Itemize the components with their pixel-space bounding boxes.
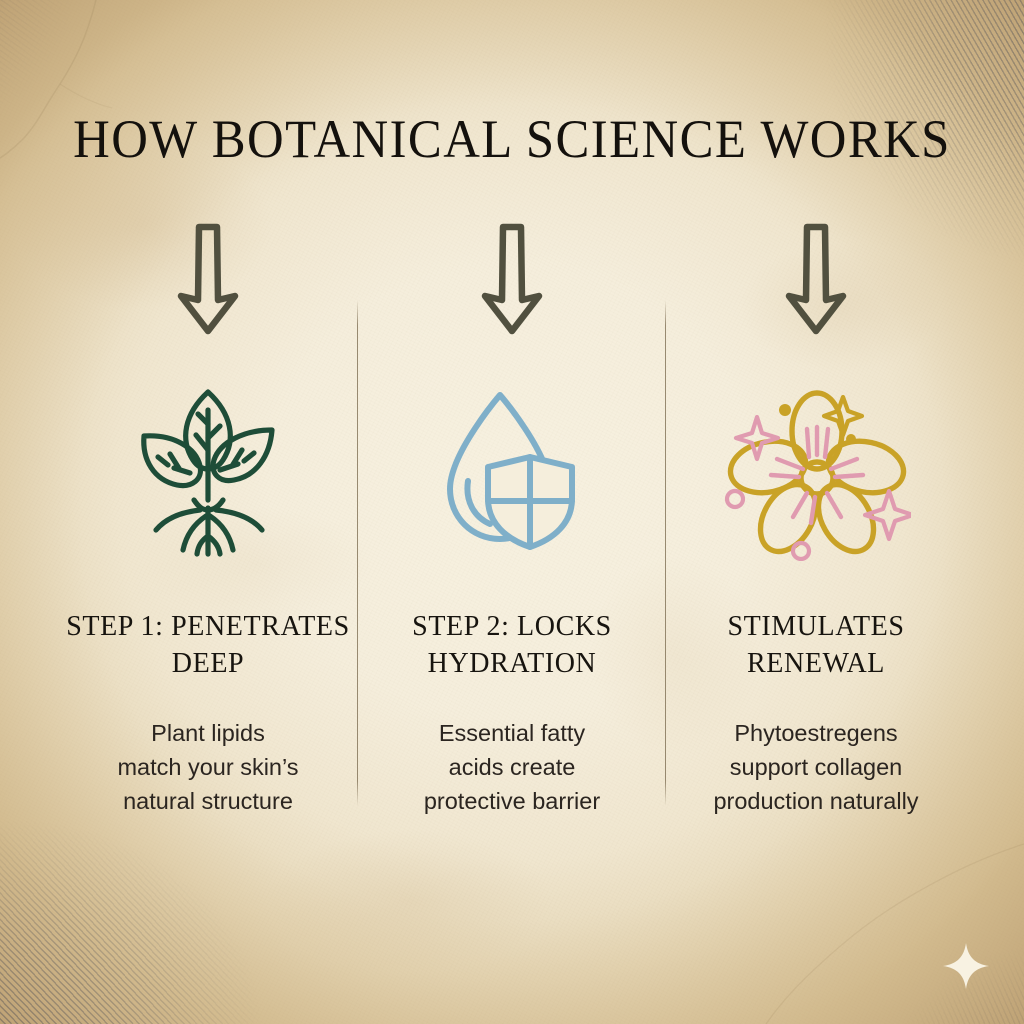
step-column-3: STIMULATES RENEWAL Phytoestregens suppor… (666, 0, 966, 1024)
water-droplet-shield-icon (432, 387, 592, 555)
step-body-2: Essential fatty acids create protective … (362, 716, 662, 818)
arrow-down-icon (781, 222, 851, 336)
sparkle-icon (941, 941, 991, 991)
flower-icon-wrapper (666, 378, 966, 563)
dot-icon (846, 434, 856, 444)
droplet-icon-wrapper (362, 378, 662, 563)
arrow-down-icon (173, 222, 243, 336)
dot-icon (727, 491, 743, 507)
arrow-down-icon (477, 222, 547, 336)
step-body-1: Plant lipids match your skin’s natural s… (58, 716, 358, 818)
dot-icon (793, 543, 809, 559)
sprout-plant-roots-icon (120, 378, 296, 563)
arrow-down-wrapper-1 (58, 222, 358, 336)
flower-sparkle-icon (721, 381, 911, 561)
dot-icon (779, 404, 791, 416)
step-heading-3: STIMULATES RENEWAL (672, 608, 960, 682)
infographic-canvas: HOW BOTANICAL SCIENCE WORKS (0, 0, 1024, 1024)
step-body-3: Phytoestregens support collagen producti… (666, 716, 966, 818)
step-heading-1: STEP 1: PENETRATES DEEP (64, 608, 352, 682)
arrow-down-wrapper-3 (666, 222, 966, 336)
step-column-1: STEP 1: PENETRATES DEEP Plant lipids mat… (58, 0, 358, 1024)
arrow-down-wrapper-2 (362, 222, 662, 336)
step-column-2: STEP 2: LOCKS HYDRATION Essential fatty … (362, 0, 662, 1024)
plant-icon-wrapper (58, 378, 358, 563)
step-heading-2: STEP 2: LOCKS HYDRATION (368, 608, 656, 682)
